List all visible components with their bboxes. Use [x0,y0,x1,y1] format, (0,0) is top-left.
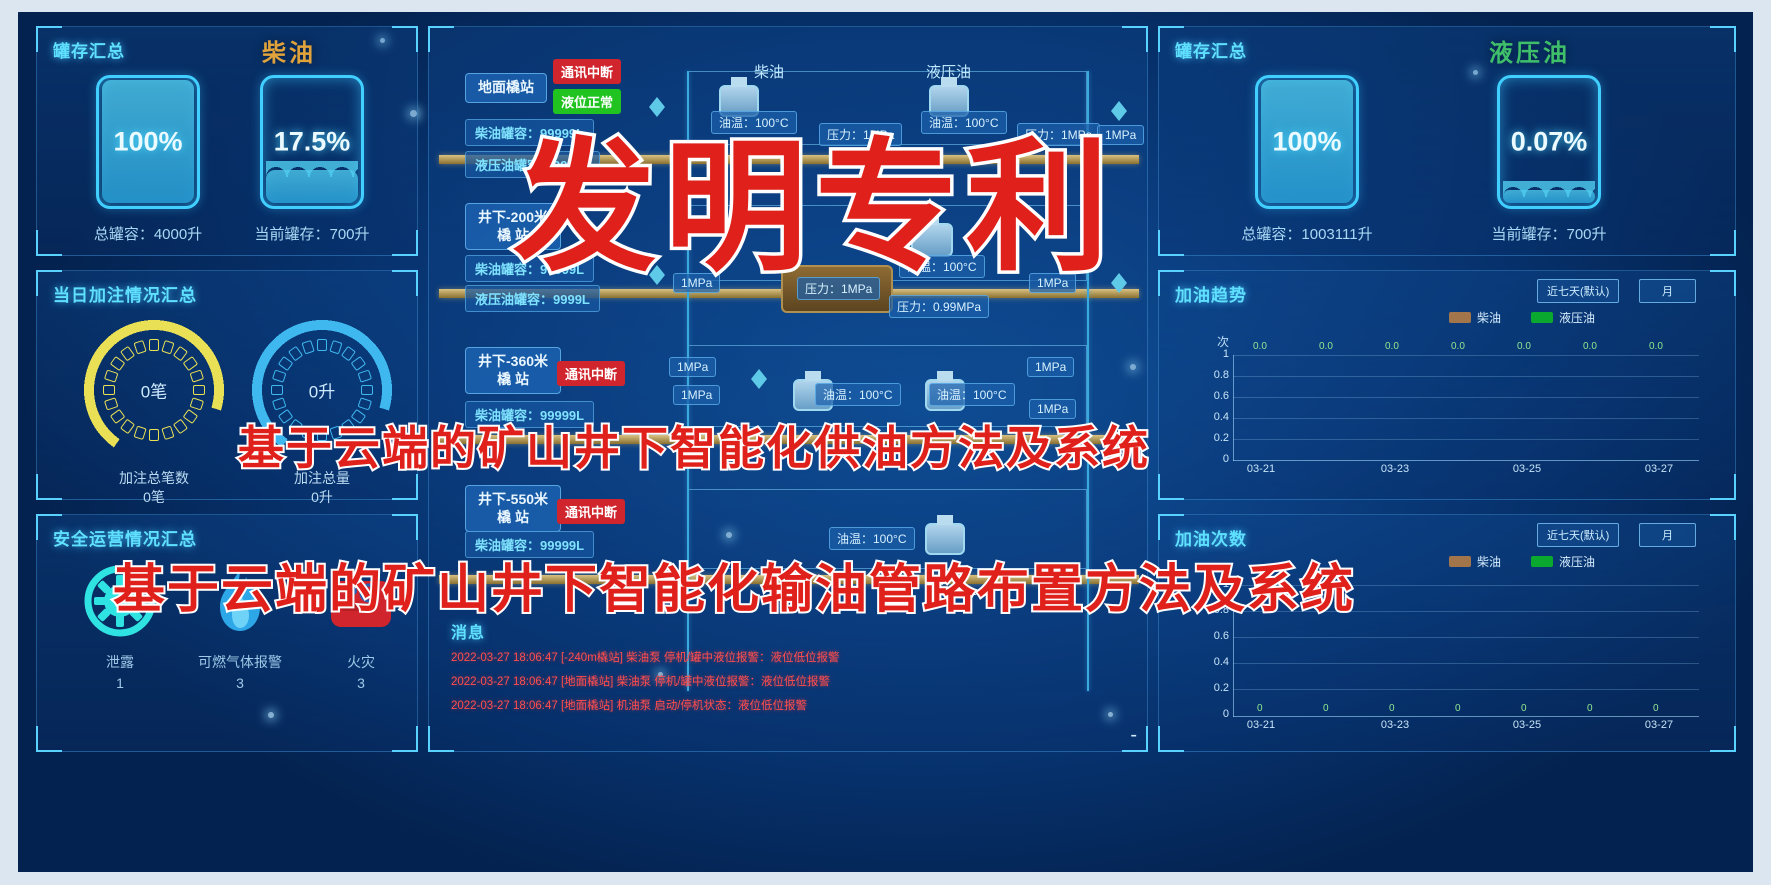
gridline [1233,355,1699,356]
pressure-tag: 1MPa [669,357,716,377]
pressure-tag: 1MPa [673,385,720,405]
x-tick-label: 03-27 [1631,719,1687,731]
bar-data-label: 0 [1587,703,1593,714]
tank-graphic: 100% [1255,75,1359,209]
tank-caption: 总罐容：4000升 [83,223,213,244]
tank-percent: 100% [99,127,197,158]
x-tick-label: 03-27 [1631,463,1687,475]
y-tick-label: 0.6 [1205,390,1229,402]
corner-decoration [1158,474,1184,500]
x-axis-line [1233,460,1699,461]
tank-neck [937,371,953,381]
refuel-count-ring: 0笔 [79,315,229,465]
panel-product-hydraulic: 液压油 [1489,33,1570,68]
station-status-badge-comm: 通讯中断 [557,361,625,386]
gridline [1233,637,1699,638]
panel-refuel-trend: 加油趋势 近七天(默认) 月 柴油 液压油 次 1 [1158,270,1736,500]
x-tick-label: 03-21 [1233,463,1289,475]
tank-graphic: 17.5% [260,75,364,209]
station-status-badge-comm: 通讯中断 [553,59,621,84]
safety-label: 火灾 [311,652,411,672]
tank-graphic: 100% [96,75,200,209]
message-line: 2022-03-27 18:06:47 [地面橇站] 机油泵 启动/停机状态：液… [451,697,807,713]
tank-percent: 17.5% [263,127,361,158]
diesel-current-stock-gauge: 17.5% 当前罐存：700升 [247,75,377,244]
caption-value: 0笔 [79,488,229,507]
chart-plot-area: 1 0.8 0.6 0.4 0.2 0 0.0 0.0 0.0 0.0 0.0 … [1233,355,1699,461]
corner-decoration [428,726,454,752]
range-button-month[interactable]: 月 [1639,523,1696,547]
messages-title: 消息 [451,619,485,643]
hydraulic-current-stock-gauge: 0.07% 当前罐存：700升 [1459,75,1639,244]
corner-decoration [1158,230,1184,256]
legend-swatch [1531,312,1553,323]
tank-caption: 当前罐存：700升 [1459,223,1639,244]
gridline [1233,689,1699,690]
x-tick-label: 03-25 [1499,719,1555,731]
station-name-550m[interactable]: 井下-550米 橇 站 [465,485,561,532]
bar-data-label: 0.0 [1649,341,1663,352]
ring-value: 0升 [247,378,397,403]
safety-value: 1 [65,675,175,691]
legend-item-hydraulic[interactable]: 液压油 [1531,309,1595,326]
bar-data-label: 0.0 [1253,341,1267,352]
product-header-diesel: 柴油 [747,59,791,84]
ring-tick [133,340,146,355]
screenshot-root: 罐存汇总 柴油 100% 总罐容：4000升 17.5% 当前罐存：700升 [0,0,1771,885]
corner-decoration [1122,26,1148,52]
message-line: 2022-03-27 18:06:47 [-240m橇站] 柴油泵 停机/罐中液… [451,649,840,665]
ring-tick [317,339,327,351]
gridline [1233,397,1699,398]
bar-data-label: 0.0 [1385,341,1399,352]
y-tick-label: 0.2 [1205,432,1229,444]
bar-data-label: 0 [1455,703,1461,714]
bar-data-label: 0.0 [1319,341,1333,352]
legend-item-hydraulic[interactable]: 液压油 [1531,553,1595,570]
range-button-seven-days[interactable]: 近七天(默认) [1537,279,1619,303]
ring-tick [161,340,174,355]
panel-title-hydraulic-storage: 罐存汇总 [1175,37,1247,62]
bar-data-label: 0 [1653,703,1659,714]
range-button-month[interactable]: 月 [1639,279,1696,303]
y-tick-label: 0.6 [1205,630,1229,642]
corner-decoration [392,230,418,256]
y-tick-label: 0.4 [1205,411,1229,423]
diesel-total-capacity-gauge: 100% 总罐容：4000升 [83,75,213,244]
legend-swatch [1449,312,1471,323]
station-status-badge-comm: 通讯中断 [557,499,625,524]
tank-fill [1503,190,1595,203]
caption-title: 加注总笔数 [79,469,229,488]
refuel-count-caption: 加注总笔数 0笔 [79,469,229,507]
corner-decoration [392,26,418,52]
panel-product-diesel: 柴油 [262,33,316,68]
tank-neck [805,371,821,381]
sensor-tag-oil-temp: 油温：100°C [929,383,1015,406]
legend-label: 液压油 [1559,309,1595,326]
caption-value: 0升 [247,488,397,507]
watermark-main: 发明专利 [513,92,1117,299]
legend-item-diesel[interactable]: 柴油 [1449,553,1501,570]
ring-tick [149,429,159,441]
corner-decoration [1710,514,1736,540]
x-tick-label: 03-23 [1367,463,1423,475]
x-tick-label: 03-23 [1367,719,1423,731]
hydraulic-total-capacity-gauge: 100% 总罐容：1003111升 [1217,75,1397,244]
y-tick-label: 0.8 [1205,369,1229,381]
panel-diesel-storage: 罐存汇总 柴油 100% 总罐容：4000升 17.5% 当前罐存：700升 [36,26,418,256]
panel-hydraulic-storage: 罐存汇总 液压油 100% 总罐容：1003111升 0.07% 当前罐存：70… [1158,26,1736,256]
ring-value: 0笔 [79,378,229,403]
bar-data-label: 0.0 [1583,341,1597,352]
tank-caption: 当前罐存：700升 [247,223,377,244]
y-tick-label: 0 [1205,708,1229,720]
corner-decoration [36,474,62,500]
corner-decoration [36,230,62,256]
panel-title-diesel-storage: 罐存汇总 [53,37,125,62]
y-tick-label: 0.4 [1205,656,1229,668]
x-axis-line [1233,716,1699,717]
tank-neck [937,515,953,525]
corner-decoration [1710,474,1736,500]
tank-caption: 总罐容：1003111升 [1217,223,1397,244]
gridline [1233,418,1699,419]
legend-label: 柴油 [1477,553,1501,570]
corner-decoration [1710,270,1736,296]
legend-label: 柴油 [1477,309,1501,326]
tank-percent: 100% [1258,127,1356,158]
tank-fill [266,170,358,203]
tank-neck [731,77,747,87]
bar-data-label: 0.0 [1517,341,1531,352]
ring-tick [301,340,314,355]
legend-label: 液压油 [1559,553,1595,570]
message-line: 2022-03-27 18:06:47 [地面橇站] 柴油泵 停机/罐中液位报警… [451,673,830,689]
corner-decoration [1710,26,1736,52]
legend-swatch [1531,556,1553,567]
gridline [1233,663,1699,664]
bar-data-label: 0 [1257,703,1263,714]
corner-decoration [1710,726,1736,752]
sensor-tag-oil-temp: 油温：100°C [815,383,901,406]
corner-decoration [392,726,418,752]
safety-value: 3 [311,675,411,691]
corner-decoration [392,514,418,540]
ring-tick [133,426,146,441]
tank-wave [1503,181,1595,197]
tank-percent: 0.07% [1500,127,1598,158]
legend-swatch [1449,556,1471,567]
safety-value: 3 [175,675,305,691]
x-tick-label: 03-25 [1499,463,1555,475]
safety-label: 泄露 [65,652,175,672]
bar-data-label: 0.0 [1451,341,1465,352]
pressure-tag: 1MPa [1027,357,1074,377]
corner-decoration [1710,230,1736,256]
y-tick-label: 1 [1205,348,1229,360]
chart-title-refuel-trend: 加油趋势 [1175,281,1247,306]
bar-data-label: 0 [1389,703,1395,714]
corner-decoration [392,270,418,296]
watermark-patent-title-1: 基于云端的矿山井下智能化供油方法及系统 [238,412,1150,478]
gridline [1233,439,1699,440]
ring-tick [149,339,159,351]
panel-title-daily-refuel: 当日加注情况汇总 [53,281,197,306]
corner-decoration [36,726,62,752]
tank-wave [266,161,358,177]
x-tick-label: 03-21 [1233,719,1289,731]
bar-data-label: 0 [1521,703,1527,714]
ring-tick [329,340,342,355]
dashboard-frame: 罐存汇总 柴油 100% 总罐容：4000升 17.5% 当前罐存：700升 [18,12,1753,872]
safety-label: 可燃气体报警 [175,652,305,672]
corner-decoration [1158,726,1184,752]
y-tick-label: 0 [1205,453,1229,465]
bar-data-label: 0 [1323,703,1329,714]
y-tick-label: 0.2 [1205,682,1229,694]
station-name-360m[interactable]: 井下-360米 橇 站 [465,347,561,394]
corner-decoration [428,26,454,52]
y-axis-line [1233,355,1234,461]
minimize-button[interactable]: - [1130,725,1137,745]
tank-graphic: 0.07% [1497,75,1601,209]
watermark-patent-title-2: 基于云端的矿山井下智能化输油管路布置方法及系统 [113,547,1355,622]
tank-neck [941,77,957,87]
legend-item-diesel[interactable]: 柴油 [1449,309,1501,326]
gridline [1233,376,1699,377]
range-button-seven-days[interactable]: 近七天(默认) [1537,523,1619,547]
